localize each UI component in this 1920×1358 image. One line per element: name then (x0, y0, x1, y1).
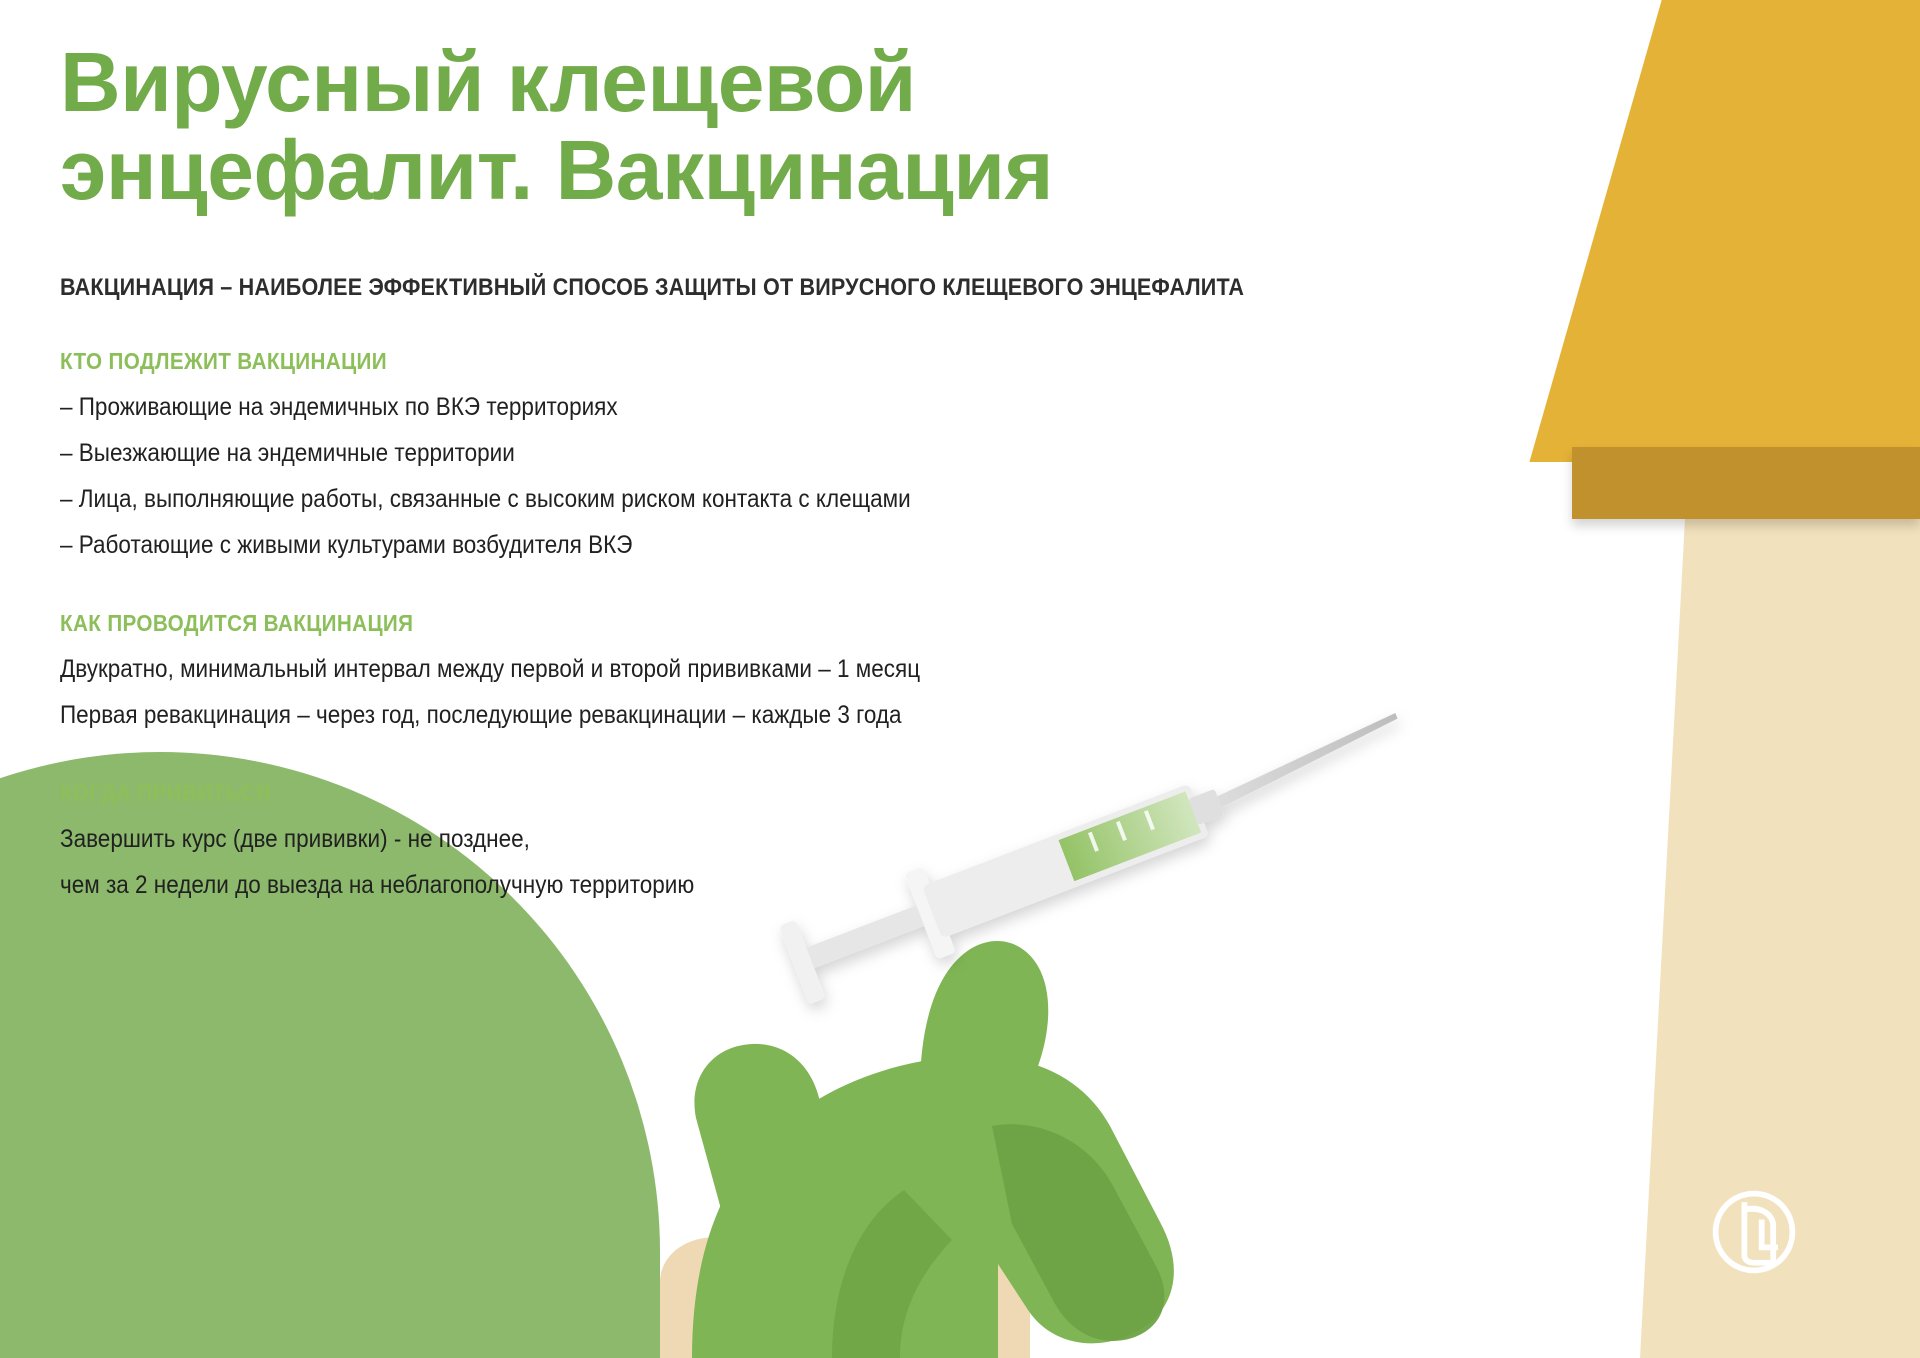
section-when-to-vaccinate: КОГДА ПРИВИТЬСЯ Завершить курс (две прив… (60, 780, 1240, 898)
bullet-item: – Работающие с живыми культурами возбуди… (60, 533, 1122, 558)
lead-statement: ВАКЦИНАЦИЯ – НАИБОЛЕЕ ЭФФЕКТИВНЫЙ СПОСОБ… (60, 274, 1098, 302)
section-heading: КАК ПРОВОДИТСЯ ВАКЦИНАЦИЯ (60, 610, 1098, 637)
gold-trapezoid-decor (1500, 0, 1920, 462)
bullet-item: – Лица, выполняющие работы, связанные с … (60, 487, 1122, 512)
section-who-should-vaccinate: КТО ПОДЛЕЖИТ ВАКЦИНАЦИИ – Проживающие на… (60, 348, 1240, 558)
section-how-vaccination-is-done: КАК ПРОВОДИТСЯ ВАКЦИНАЦИЯ Двукратно, мин… (60, 610, 1240, 728)
thumb-shape (694, 1044, 828, 1220)
section-heading: КОГДА ПРИВИТЬСЯ (60, 780, 1098, 807)
green-circle-fill-decor (0, 1250, 660, 1358)
bullet-item: – Проживающие на эндемичных по ВКЭ терри… (60, 395, 1122, 420)
syringe-plunger-rod (801, 902, 932, 970)
bullet-item: – Выезжающие на эндемичные территории (60, 441, 1122, 466)
page-title: Вирусный клещевой энцефалит. Вакцинация (60, 38, 1240, 214)
infographic-slide: Вирусный клещевой энцефалит. Вакцинация … (0, 0, 1920, 1358)
body-line: Завершить курс (две прививки) - не поздн… (60, 827, 1122, 852)
body-line: Первая ревакцинация – через год, последу… (60, 703, 1122, 728)
green-circle-left-decor (0, 1250, 10, 1358)
circular-monogram-logo (1706, 1184, 1802, 1280)
text-content-area: Вирусный клещевой энцефалит. Вакцинация … (60, 38, 1240, 898)
syringe-needle (1212, 713, 1404, 808)
section-heading: КТО ПОДЛЕЖИТ ВАКЦИНАЦИИ (60, 348, 1098, 375)
gold-band-decor (1572, 447, 1920, 519)
body-line: Двукратно, минимальный интервал между пе… (60, 657, 1122, 682)
body-line: чем за 2 недели до выезда на неблагополу… (60, 873, 1122, 898)
